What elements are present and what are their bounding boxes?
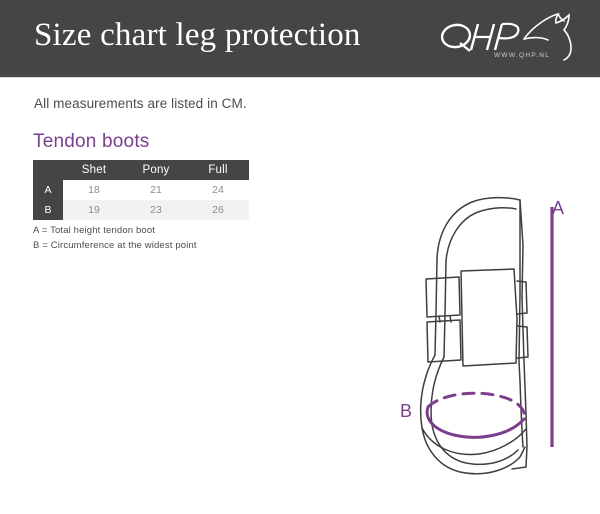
table-header-row: Shet Pony Full — [33, 160, 249, 180]
table-corner-cell — [33, 160, 63, 180]
column-header-shet: Shet — [63, 160, 125, 180]
measure-ellipse-top-dashed — [428, 393, 524, 419]
legend-line-b: B = Circumference at the widest point — [33, 238, 197, 253]
measurement-note: All measurements are listed in CM. — [34, 96, 247, 111]
table-row: B 19 23 26 — [33, 200, 249, 220]
diagram-label-a: A — [552, 198, 564, 219]
size-table: Shet Pony Full A 18 21 24 B 19 23 26 — [33, 160, 249, 220]
diagram-label-b: B — [400, 401, 412, 422]
tendon-boot-diagram: A B — [380, 185, 590, 485]
table-row: A 18 21 24 — [33, 180, 249, 200]
measure-ellipse-bottom-solid — [427, 407, 524, 437]
section-title-tendon-boots: Tendon boots — [33, 131, 150, 153]
row-label-b: B — [33, 200, 63, 220]
page-header: Size chart leg protection — [0, 0, 600, 78]
size-table-container: Shet Pony Full A 18 21 24 B 19 23 26 — [33, 160, 249, 220]
cell-b-full: 26 — [187, 200, 249, 220]
table-body: A 18 21 24 B 19 23 26 — [33, 180, 249, 220]
page-title: Size chart leg protection — [34, 17, 361, 54]
qhp-logo: WWW.QHP.NL — [438, 12, 578, 68]
legend-line-a: A = Total height tendon boot — [33, 223, 197, 238]
row-label-a: A — [33, 180, 63, 200]
cell-a-shet: 18 — [63, 180, 125, 200]
measurement-legend: A = Total height tendon boot B = Circumf… — [33, 223, 197, 253]
cell-b-shet: 19 — [63, 200, 125, 220]
cell-a-full: 24 — [187, 180, 249, 200]
table-head: Shet Pony Full — [33, 160, 249, 180]
cell-a-pony: 21 — [125, 180, 187, 200]
column-header-pony: Pony — [125, 160, 187, 180]
cell-b-pony: 23 — [125, 200, 187, 220]
logo-url-text: WWW.QHP.NL — [494, 52, 550, 59]
column-header-full: Full — [187, 160, 249, 180]
